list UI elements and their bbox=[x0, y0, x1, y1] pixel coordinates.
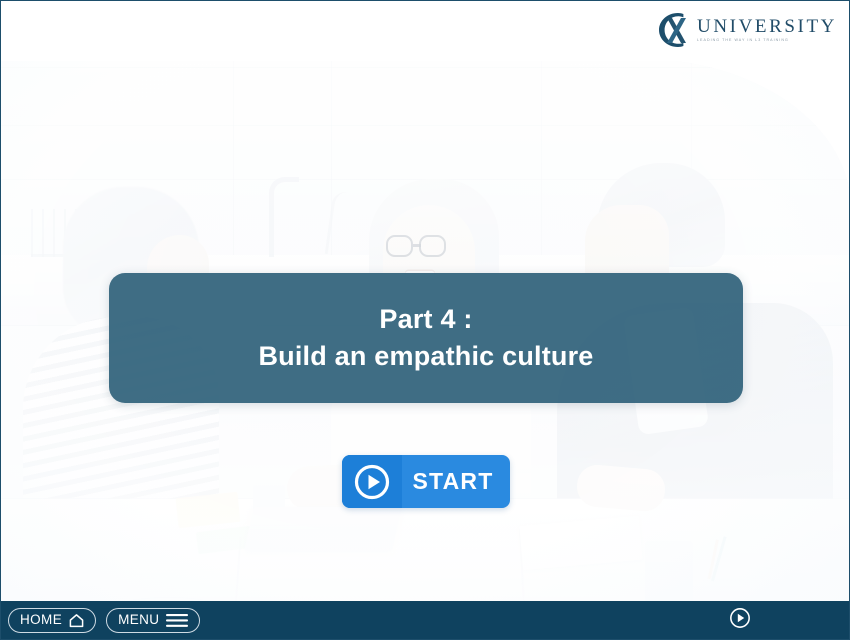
university-logo: UNIVERSITY LEADING THE WAY IN L3 TRAININ… bbox=[656, 9, 837, 51]
photo-hands-right bbox=[575, 463, 666, 513]
play-circle-icon bbox=[729, 607, 751, 634]
logo-tagline: LEADING THE WAY IN L3 TRAINING bbox=[697, 39, 837, 43]
footer-play-button[interactable] bbox=[729, 607, 751, 634]
start-button-label: START bbox=[402, 468, 510, 495]
footer-bar: HOME MENU bbox=[1, 601, 850, 639]
photo-person-center-glasses-bridge bbox=[413, 244, 421, 247]
slide-root: UNIVERSITY LEADING THE WAY IN L3 TRAININ… bbox=[0, 0, 850, 640]
photo-laptop bbox=[244, 507, 401, 551]
photo-table bbox=[1, 499, 850, 603]
title-line-1: Part 4 : bbox=[379, 301, 472, 338]
photo-person-center-glasses-left bbox=[386, 235, 413, 257]
menu-button-label: MENU bbox=[118, 613, 159, 627]
play-circle-icon[interactable] bbox=[342, 455, 402, 508]
home-button-label: HOME bbox=[20, 613, 62, 627]
x-monogram-icon bbox=[656, 10, 696, 50]
logo-text: UNIVERSITY LEADING THE WAY IN L3 TRAININ… bbox=[697, 17, 837, 43]
home-button[interactable]: HOME bbox=[8, 608, 96, 633]
logo-name: UNIVERSITY bbox=[697, 17, 837, 36]
title-card: Part 4 : Build an empathic culture bbox=[109, 273, 743, 403]
hamburger-icon bbox=[166, 613, 188, 628]
start-button[interactable]: START bbox=[342, 455, 510, 508]
title-line-2: Build an empathic culture bbox=[258, 338, 593, 375]
photo-person-center-glasses-right bbox=[419, 235, 446, 257]
header-bar: UNIVERSITY LEADING THE WAY IN L3 TRAININ… bbox=[1, 1, 850, 61]
photo-faucet bbox=[269, 177, 299, 257]
home-icon bbox=[69, 613, 84, 628]
menu-button[interactable]: MENU bbox=[106, 608, 200, 633]
